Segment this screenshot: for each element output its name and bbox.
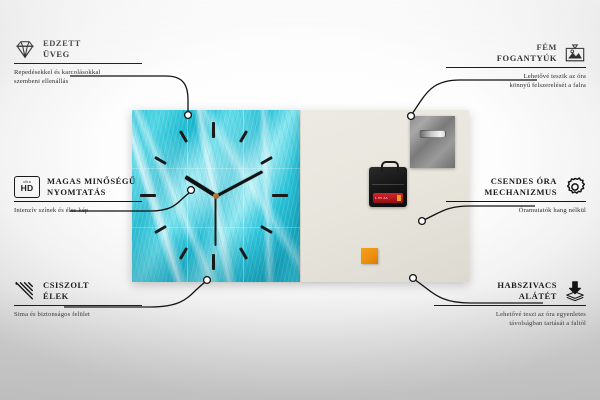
callout-desc-line1: Intenzív színek és éles kép <box>14 206 142 215</box>
hour-tick <box>154 156 167 165</box>
callout-metal-hangers: FÉM FOGANTYÚK Lehetővé teszik az óra kön… <box>446 42 586 90</box>
callout-title-line2: ÜVEG <box>43 49 81 60</box>
callout-tempered-glass: EDZETT ÜVEG Repedésekkel és karcolásokka… <box>14 38 142 86</box>
foam-pad <box>361 248 378 264</box>
callout-high-quality-print: ultra HD MAGAS MINŐSÉGŰ NYOMTATÁS Intenz… <box>14 176 142 215</box>
hour-tick <box>260 156 273 165</box>
mechanism-loop <box>381 161 399 172</box>
clock-dial <box>132 110 300 282</box>
ultra-hd-large-label: HD <box>21 184 34 193</box>
callout-title-line1: FÉM <box>446 42 557 53</box>
callout-desc-line1: Lehetővé teszi az óra egyenletes <box>434 310 586 319</box>
gear-icon <box>564 176 586 198</box>
callout-silent-mechanism: CSENDES ÓRA MECHANIZMUS Óramutatók hang … <box>446 176 586 215</box>
hour-tick <box>154 225 167 234</box>
hour-tick <box>260 225 273 234</box>
clock-pivot <box>213 193 219 199</box>
glass-clock-face <box>132 110 300 282</box>
diamond-icon <box>14 38 36 60</box>
callout-divider <box>14 305 142 306</box>
callout-title-line1: EDZETT <box>43 38 81 49</box>
callout-title-line1: CSENDES ÓRA <box>446 176 557 187</box>
callout-divider <box>434 305 586 306</box>
callout-divider <box>446 67 586 68</box>
callout-desc-line2: távolságban tartását a faltól <box>434 319 586 328</box>
callout-desc-line2: szembeni ellenállás <box>14 77 142 86</box>
callout-desc-line1: Lehetővé teszik az óra <box>446 72 586 81</box>
callout-divider <box>446 201 586 202</box>
picture-hanger-icon <box>564 42 586 64</box>
hanger-slot <box>419 130 446 138</box>
callout-desc-line1: Repedésekkel és karcolásokkal <box>14 68 142 77</box>
hour-tick <box>212 254 215 270</box>
callout-divider <box>14 63 142 64</box>
quartz-mechanism: 1.5V AA <box>369 167 407 207</box>
ultra-hd-icon: ultra HD <box>14 176 40 198</box>
hour-tick <box>212 122 215 138</box>
callout-desc-line1: Óramutatók hang nélkül <box>446 206 586 215</box>
hour-tick <box>272 194 288 197</box>
bevel-edge-icon <box>14 280 36 302</box>
hour-tick <box>239 130 248 143</box>
battery-terminal <box>397 195 401 201</box>
callout-polished-edges: CSISZOLT ÉLEK Sima és biztonságos felüle… <box>14 280 142 319</box>
product-image: 1.5V AA <box>132 110 468 282</box>
callout-title-line2: FOGANTYÚK <box>446 53 557 64</box>
battery-label: 1.5V AA <box>375 196 388 200</box>
callout-title-line2: MECHANIZMUS <box>446 187 557 198</box>
hour-tick <box>179 130 188 143</box>
hour-tick <box>140 194 156 197</box>
battery: 1.5V AA <box>373 193 403 203</box>
callout-title-line1: MAGAS MINŐSÉGŰ <box>47 176 136 187</box>
second-hand <box>215 196 217 246</box>
callout-title-line2: ALÁTÉT <box>434 291 557 302</box>
hour-tick <box>179 247 188 260</box>
callout-title-line1: HABSZIVACS <box>434 280 557 291</box>
poster-canvas: 1.5V AA <box>0 0 600 400</box>
clock-back-view: 1.5V AA <box>300 110 469 282</box>
callout-divider <box>14 201 142 202</box>
callout-title-line2: ÉLEK <box>43 291 89 302</box>
down-arrow-pad-icon <box>564 280 586 302</box>
minute-hand <box>215 170 262 197</box>
metal-hanger-plate <box>410 116 455 168</box>
callout-title-line1: CSISZOLT <box>43 280 89 291</box>
mechanism-seam <box>372 184 404 185</box>
callout-desc-line2: könnyű felszerelését a falra <box>446 81 586 90</box>
callout-desc-line1: Sima és biztonságos felület <box>14 310 142 319</box>
hour-tick <box>239 247 248 260</box>
callout-foam-pad: HABSZIVACS ALÁTÉT Lehetővé teszi az óra … <box>434 280 586 328</box>
callout-title-line2: NYOMTATÁS <box>47 187 136 198</box>
